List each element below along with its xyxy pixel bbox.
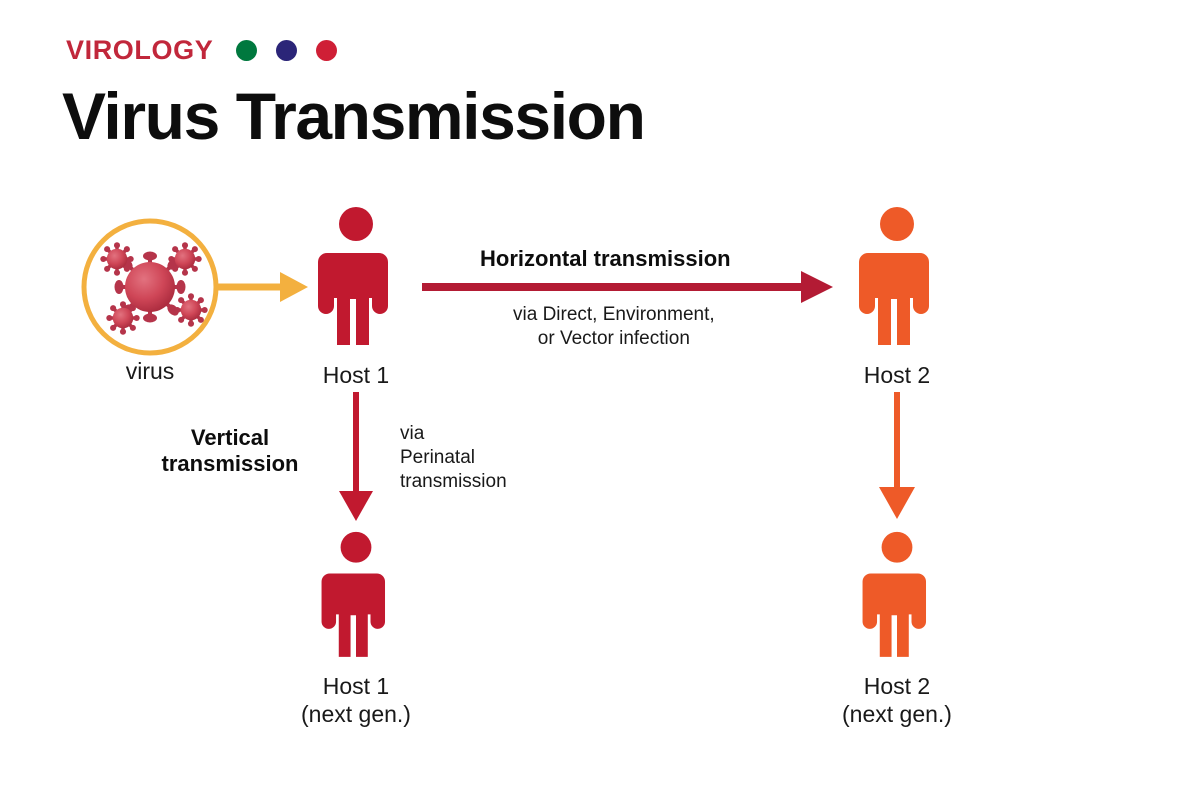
- virus-circle-icon: [79, 216, 221, 358]
- navy-dot: [276, 40, 297, 61]
- virus-caption: virus: [79, 358, 221, 385]
- red-dot: [316, 40, 337, 61]
- horizontal-transmission-title: Horizontal transmission: [480, 246, 731, 272]
- node-host2-next-gen: Host 2 (next gen.): [823, 530, 971, 728]
- node-host1-label: Host 1: [300, 361, 412, 389]
- infection-arrow: [218, 272, 308, 302]
- kicker-row: VIROLOGY: [66, 33, 337, 67]
- horizontal-transmission-subtitle: via Direct, Environment, or Vector infec…: [513, 303, 715, 351]
- green-dot: [236, 40, 257, 61]
- virus-illustration: [79, 216, 221, 363]
- page-title: Virus Transmission: [62, 82, 645, 151]
- virus-particle-small-2: [168, 242, 201, 275]
- vertical-transmission-arrow-right: [879, 392, 915, 519]
- infographic-canvas: VIROLOGY Virus Transmission: [0, 0, 1200, 800]
- node-host2-label: Host 2: [841, 361, 953, 389]
- kicker-label: VIROLOGY: [66, 37, 213, 64]
- virus-particle-small-1: [100, 242, 133, 275]
- virus-particle-small-4: [174, 293, 207, 326]
- person-icon: [319, 530, 393, 666]
- horizontal-transmission-arrow: [422, 271, 833, 303]
- person-icon: [860, 530, 934, 666]
- node-host1-next-gen-label: Host 1 (next gen.): [282, 672, 430, 728]
- node-host2: Host 2: [841, 205, 953, 389]
- vertical-transmission-arrow-left: [339, 392, 373, 521]
- node-host2-next-gen-label: Host 2 (next gen.): [823, 672, 971, 728]
- person-icon: [857, 205, 937, 355]
- vertical-transmission-title: Vertical transmission: [149, 425, 311, 478]
- virus-particle-small-3: [106, 301, 139, 334]
- node-host1-next-gen: Host 1 (next gen.): [282, 530, 430, 728]
- person-icon: [316, 205, 396, 355]
- vertical-transmission-subtitle: via Perinatal transmission: [400, 422, 507, 493]
- node-host1: Host 1: [300, 205, 412, 389]
